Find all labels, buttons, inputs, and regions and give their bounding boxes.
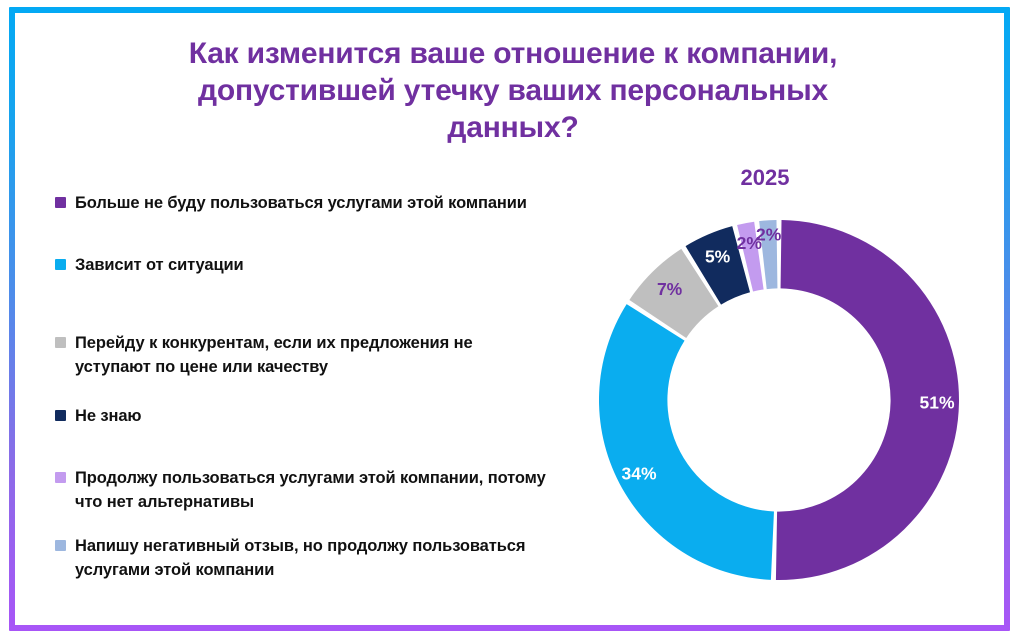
legend-color-swatch-4: [55, 472, 66, 483]
legend-color-swatch-5: [55, 540, 66, 551]
slide-content: Как изменится ваше отношение к компании,…: [15, 13, 1004, 625]
legend-item-label: Перейду к конкурентам, если их предложен…: [75, 331, 547, 379]
legend-item-label: Не знаю: [75, 404, 141, 428]
donut-chart: 51% 34% 7% 5% 2% 2%: [570, 195, 990, 605]
donut-data-label-1: 34%: [621, 463, 656, 483]
donut-chart-svg: 51% 34% 7% 5% 2% 2%: [570, 195, 990, 605]
legend-item-1[interactable]: Зависит от ситуации: [55, 253, 575, 277]
slide-canvas: Как изменится ваше отношение к компании,…: [0, 0, 1019, 638]
page-title: Как изменится ваше отношение к компании,…: [133, 35, 893, 146]
donut-data-label-5: 2%: [756, 224, 782, 244]
legend-item-3[interactable]: Не знаю: [55, 404, 575, 428]
donut-slice-group: [599, 220, 959, 580]
legend-color-swatch-1: [55, 259, 66, 270]
legend-item-label: Продолжу пользоваться услугами этой комп…: [75, 466, 547, 514]
chart-series-year-label: 2025: [705, 165, 825, 191]
donut-data-label-0: 51%: [919, 393, 954, 413]
legend-item-label: Напишу негативный отзыв, но продолжу пол…: [75, 534, 583, 582]
legend-item-label: Больше не буду пользоваться услугами это…: [75, 191, 527, 215]
legend-color-swatch-3: [55, 410, 66, 421]
legend-item-0[interactable]: Больше не буду пользоваться услугами это…: [55, 191, 575, 215]
legend-color-swatch-2: [55, 337, 66, 348]
legend-color-swatch-0: [55, 197, 66, 208]
legend-item-2[interactable]: Перейду к конкурентам, если их предложен…: [55, 331, 547, 379]
legend-item-label: Зависит от ситуации: [75, 253, 244, 277]
donut-data-label-2: 7%: [657, 279, 683, 299]
legend-item-4[interactable]: Продолжу пользоваться услугами этой комп…: [55, 466, 547, 514]
donut-data-label-3: 5%: [705, 247, 731, 267]
legend-item-5[interactable]: Напишу негативный отзыв, но продолжу пол…: [55, 534, 583, 582]
donut-slice-1[interactable]: [599, 304, 774, 580]
